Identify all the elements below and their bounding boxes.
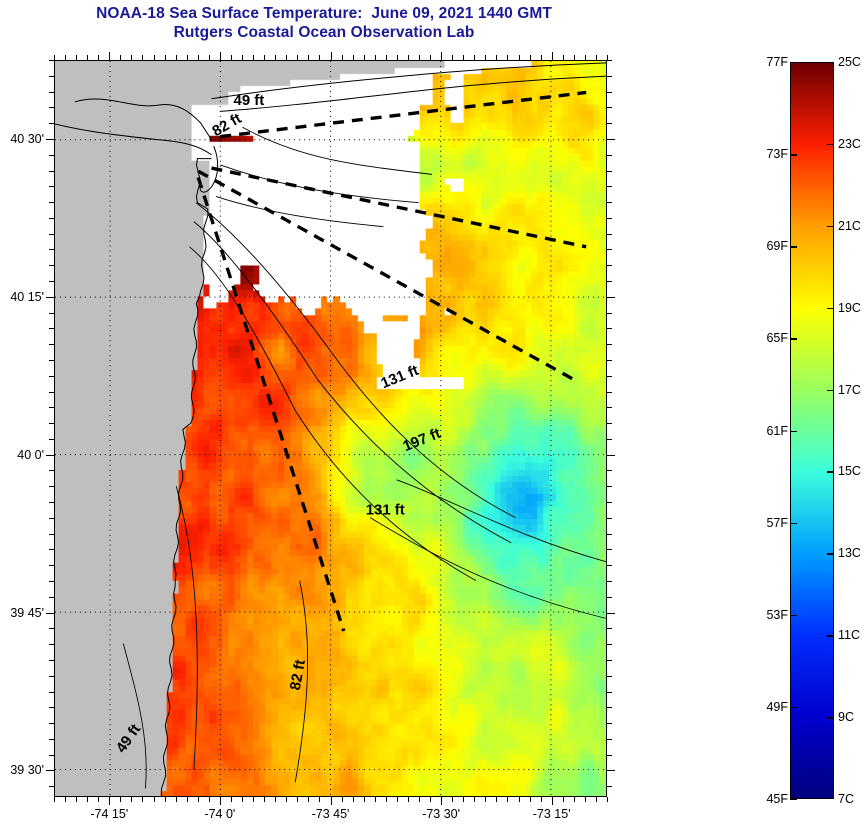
depth-contour-label: 197 ft (401, 425, 444, 455)
y-axis-tick (49, 470, 54, 471)
x-axis-tick (154, 797, 155, 802)
x-axis-tick (120, 797, 121, 802)
colorbar-tick (790, 338, 797, 339)
colorbar-tick (790, 62, 797, 63)
x-axis-tick (297, 797, 298, 802)
y-axis-tick (49, 549, 54, 550)
x-axis-tick (297, 55, 298, 60)
x-axis-tick (198, 55, 199, 60)
y-axis-tick (607, 171, 612, 172)
x-axis-tick (286, 797, 287, 802)
colorbar-tick (790, 523, 797, 524)
x-axis-tick (552, 797, 553, 805)
colorbar-fahrenheit-label: 57F (752, 516, 788, 530)
y-axis-tick (607, 234, 612, 235)
y-axis-tick (607, 549, 612, 550)
x-axis-tick (419, 55, 420, 60)
y-axis-tick (46, 297, 54, 298)
x-axis-tick (519, 55, 520, 60)
y-axis-tick (49, 60, 54, 61)
y-axis-tick (49, 234, 54, 235)
x-axis-tick (441, 797, 442, 805)
y-axis-tick (607, 407, 612, 408)
x-axis-tick (386, 55, 387, 60)
x-axis-tick (485, 797, 486, 802)
y-axis-tick (607, 486, 612, 487)
y-axis-tick (49, 265, 54, 266)
x-axis-tick (65, 55, 66, 60)
y-axis-tick (607, 628, 612, 629)
x-axis-tick (519, 797, 520, 802)
y-axis-tick (607, 692, 612, 693)
title-line-1: NOAA-18 Sea Surface Temperature: June 09… (0, 4, 648, 23)
y-axis-tick (607, 597, 612, 598)
x-axis-tick (253, 55, 254, 60)
colorbar-tick (790, 154, 797, 155)
x-axis-tick (507, 55, 508, 60)
colorbar-celsius-label: 9C (838, 710, 854, 724)
depth-contour-paths (123, 203, 606, 789)
colorbar-tick (827, 635, 834, 636)
map-overlay-layer: 49 ft82 ft131 ft197 ft131 ft82 ft49 ft (55, 61, 606, 796)
y-axis-tick (607, 76, 612, 77)
y-axis-tick (49, 597, 54, 598)
y-axis-tick (49, 692, 54, 693)
colorbar-celsius-label: 13C (838, 546, 861, 560)
y-axis-tick (607, 518, 612, 519)
x-axis-tick (463, 797, 464, 802)
y-axis-label: 40 15' (0, 290, 44, 304)
x-axis-tick (430, 797, 431, 802)
y-axis-tick (607, 470, 612, 471)
x-axis-tick (585, 797, 586, 802)
depth-contour-label: 49 ft (113, 721, 145, 756)
x-axis-tick (319, 797, 320, 802)
y-axis-tick (49, 723, 54, 724)
y-axis-tick (49, 328, 54, 329)
y-axis-tick (49, 344, 54, 345)
x-axis-tick (507, 797, 508, 802)
y-axis-tick (607, 265, 612, 266)
y-axis-tick (49, 360, 54, 361)
x-axis-tick (286, 55, 287, 60)
colorbar-celsius-label: 7C (838, 792, 854, 806)
x-axis-tick (452, 797, 453, 802)
y-axis-tick (607, 313, 612, 314)
x-axis-tick (142, 55, 143, 60)
y-axis-tick (607, 723, 612, 724)
colorbar-tick (827, 144, 834, 145)
x-axis-tick (364, 797, 365, 802)
y-axis-tick (49, 155, 54, 156)
x-axis-label: -73 15' (533, 807, 571, 821)
x-axis-tick (563, 55, 564, 60)
x-axis-tick (375, 797, 376, 802)
colorbar-celsius-label: 11C (838, 628, 860, 642)
x-axis-tick (331, 797, 332, 805)
x-axis-label: -73 45' (312, 807, 350, 821)
x-axis-label: -74 15' (90, 807, 128, 821)
y-axis-tick (607, 534, 612, 535)
x-axis-tick (496, 797, 497, 802)
y-axis-tick (607, 786, 612, 787)
x-axis-tick (275, 55, 276, 60)
y-axis-tick (49, 660, 54, 661)
x-axis-tick (585, 55, 586, 60)
x-axis-tick (165, 55, 166, 60)
x-axis-tick (308, 797, 309, 802)
y-axis-tick (607, 644, 612, 645)
y-axis-tick (49, 518, 54, 519)
y-axis-label: 39 30' (0, 763, 44, 777)
colorbar-fahrenheit-label: 49F (752, 700, 788, 714)
x-axis-tick (187, 55, 188, 60)
x-axis-tick (87, 55, 88, 60)
colorbar-tick (827, 471, 834, 472)
y-axis-tick (607, 249, 612, 250)
x-axis-tick (463, 55, 464, 60)
y-axis-tick (49, 755, 54, 756)
depth-contour-label: 131 ft (366, 501, 405, 518)
x-axis-tick (220, 797, 221, 805)
y-axis-tick (49, 218, 54, 219)
y-axis-tick (607, 613, 615, 614)
x-axis-tick (176, 55, 177, 60)
y-axis-tick (607, 202, 612, 203)
y-axis-tick (607, 392, 612, 393)
y-axis-tick (46, 139, 54, 140)
title-line-2: Rutgers Coastal Ocean Observation Lab (0, 23, 648, 42)
y-axis-tick (607, 218, 612, 219)
y-axis-tick (607, 739, 612, 740)
y-axis-tick (607, 328, 612, 329)
colorbar-celsius-label: 19C (838, 301, 861, 315)
y-axis-tick (49, 486, 54, 487)
y-axis-tick (49, 313, 54, 314)
y-axis-tick (607, 439, 612, 440)
colorbar-tick (827, 308, 834, 309)
x-axis-tick (530, 55, 531, 60)
x-axis-tick (87, 797, 88, 802)
y-axis-tick (607, 676, 612, 677)
x-axis-tick (563, 797, 564, 802)
x-axis-tick (187, 797, 188, 802)
y-axis-tick (607, 155, 612, 156)
x-axis-tick (353, 797, 354, 802)
depth-contour-label: 82 ft (287, 658, 309, 691)
y-axis-tick (46, 770, 54, 771)
map-gridlines (55, 61, 606, 796)
x-axis-tick (154, 55, 155, 60)
colorbar-fahrenheit-label: 65F (752, 331, 788, 345)
x-axis-tick (530, 797, 531, 802)
coastline-paths (55, 63, 606, 796)
x-axis-tick (485, 55, 486, 60)
colorbar-tick (827, 717, 834, 718)
colorbar-fahrenheit-label: 73F (752, 147, 788, 161)
y-axis-tick (46, 613, 54, 614)
x-axis-tick (397, 797, 398, 802)
colorbar-tick (790, 615, 797, 616)
y-axis-tick (49, 628, 54, 629)
x-axis-tick (419, 797, 420, 802)
x-axis-tick (574, 797, 575, 802)
x-axis-label: -74 0' (204, 807, 235, 821)
y-axis-tick (607, 60, 612, 61)
colorbar-tick (790, 246, 797, 247)
y-axis-tick (607, 186, 612, 187)
y-axis-tick (49, 707, 54, 708)
x-axis-tick (209, 797, 210, 802)
colorbar-tick (827, 390, 834, 391)
y-axis-tick (49, 281, 54, 282)
x-axis-tick (386, 797, 387, 802)
y-axis-tick (607, 455, 615, 456)
colorbar-celsius-label: 17C (838, 383, 861, 397)
y-axis-tick (607, 107, 612, 108)
y-axis-tick (49, 644, 54, 645)
x-axis-tick (319, 55, 320, 60)
y-axis-tick (49, 186, 54, 187)
colorbar-celsius-label: 15C (838, 464, 861, 478)
x-axis-tick (342, 55, 343, 60)
y-axis-tick (49, 92, 54, 93)
x-axis-tick (452, 55, 453, 60)
x-axis-tick (231, 797, 232, 802)
y-axis-label: 40 30' (0, 132, 44, 146)
x-axis-tick (253, 797, 254, 802)
y-axis-tick (49, 739, 54, 740)
x-axis-tick (54, 55, 55, 60)
chart-title: NOAA-18 Sea Surface Temperature: June 09… (0, 4, 648, 42)
y-axis-tick (49, 407, 54, 408)
x-axis-tick (231, 55, 232, 60)
x-axis-tick (397, 55, 398, 60)
y-axis-tick (49, 502, 54, 503)
x-axis-tick (408, 797, 409, 802)
y-axis-tick (49, 376, 54, 377)
y-axis-label: 39 45' (0, 606, 44, 620)
y-axis-tick (607, 502, 612, 503)
colorbar-celsius-label: 21C (838, 219, 861, 233)
colorbar-fahrenheit-label: 53F (752, 608, 788, 622)
y-axis-tick (607, 139, 615, 140)
x-axis-tick (242, 55, 243, 60)
x-axis-tick (496, 55, 497, 60)
x-axis-tick (275, 797, 276, 802)
x-axis-tick (220, 52, 221, 60)
y-axis-tick (49, 565, 54, 566)
colorbar-tick (827, 226, 834, 227)
transect-dashed-lines (198, 92, 586, 630)
y-axis-tick (607, 707, 612, 708)
y-axis-tick (607, 581, 612, 582)
colorbar-fahrenheit-label: 61F (752, 424, 788, 438)
y-axis-tick (49, 171, 54, 172)
x-axis-tick (574, 55, 575, 60)
x-axis-tick (264, 797, 265, 802)
colorbar-tick (790, 707, 797, 708)
y-axis-tick (49, 202, 54, 203)
x-axis-tick (176, 797, 177, 802)
x-axis-tick (131, 797, 132, 802)
y-axis-tick (607, 770, 615, 771)
colorbar-fahrenheit-label: 45F (752, 792, 788, 806)
x-axis-tick (342, 797, 343, 802)
colorbar-celsius-label: 25C (838, 55, 861, 69)
y-axis-tick (49, 581, 54, 582)
colorbar-tick (827, 553, 834, 554)
x-axis-tick (131, 55, 132, 60)
colorbar-gradient (791, 63, 833, 798)
x-axis-tick (364, 55, 365, 60)
colorbar-tick (790, 799, 797, 800)
y-axis-tick (607, 660, 612, 661)
x-axis-tick (109, 797, 110, 805)
x-axis-tick (165, 797, 166, 802)
x-axis-tick (607, 797, 608, 802)
y-axis-tick (49, 786, 54, 787)
x-axis-tick (142, 797, 143, 802)
y-axis-tick (607, 344, 612, 345)
x-axis-tick (474, 55, 475, 60)
x-axis-tick (264, 55, 265, 60)
y-axis-tick (49, 76, 54, 77)
x-axis-tick (353, 55, 354, 60)
y-axis-tick (607, 755, 612, 756)
x-axis-tick (242, 797, 243, 802)
y-axis-tick (49, 676, 54, 677)
x-axis-tick (541, 797, 542, 802)
x-axis-tick (552, 52, 553, 60)
colorbar-tick (790, 431, 797, 432)
x-axis-tick (209, 55, 210, 60)
depth-contour-label: 131 ft (379, 362, 422, 392)
x-axis-tick (331, 52, 332, 60)
x-axis-tick (65, 797, 66, 802)
sst-map-plot[interactable]: 49 ft82 ft131 ft197 ft131 ft82 ft49 ft (54, 60, 607, 797)
y-axis-tick (49, 249, 54, 250)
y-axis-tick (46, 455, 54, 456)
x-axis-tick (541, 55, 542, 60)
x-axis-tick (308, 55, 309, 60)
y-axis-tick (607, 123, 612, 124)
x-axis-label: -73 30' (422, 807, 460, 821)
y-axis-tick (607, 281, 612, 282)
y-axis-label: 40 0' (0, 448, 44, 462)
x-axis-tick (98, 55, 99, 60)
y-axis-tick (49, 107, 54, 108)
x-axis-tick (198, 797, 199, 802)
depth-contour-labels: 49 ft82 ft131 ft197 ft131 ft82 ft49 ft (113, 92, 443, 756)
x-axis-tick (375, 55, 376, 60)
x-axis-tick (441, 52, 442, 60)
x-axis-tick (120, 55, 121, 60)
x-axis-tick (474, 797, 475, 802)
x-axis-tick (76, 797, 77, 802)
y-axis-tick (607, 92, 612, 93)
x-axis-tick (109, 52, 110, 60)
x-axis-tick (408, 55, 409, 60)
colorbar-fahrenheit-label: 77F (752, 55, 788, 69)
colorbar-celsius-label: 23C (838, 137, 861, 151)
y-axis-tick (49, 423, 54, 424)
colorbar-fahrenheit-label: 69F (752, 239, 788, 253)
y-axis-tick (607, 376, 612, 377)
depth-contour-label: 49 ft (234, 92, 265, 109)
x-axis-tick (54, 797, 55, 802)
x-axis-tick (98, 797, 99, 802)
y-axis-tick (49, 534, 54, 535)
x-axis-tick (430, 55, 431, 60)
y-axis-tick (49, 392, 54, 393)
y-axis-tick (49, 439, 54, 440)
y-axis-tick (607, 423, 612, 424)
y-axis-tick (49, 123, 54, 124)
x-axis-tick (596, 797, 597, 802)
x-axis-tick (596, 55, 597, 60)
y-axis-tick (607, 565, 612, 566)
y-axis-tick (607, 297, 615, 298)
x-axis-tick (76, 55, 77, 60)
y-axis-tick (607, 360, 612, 361)
